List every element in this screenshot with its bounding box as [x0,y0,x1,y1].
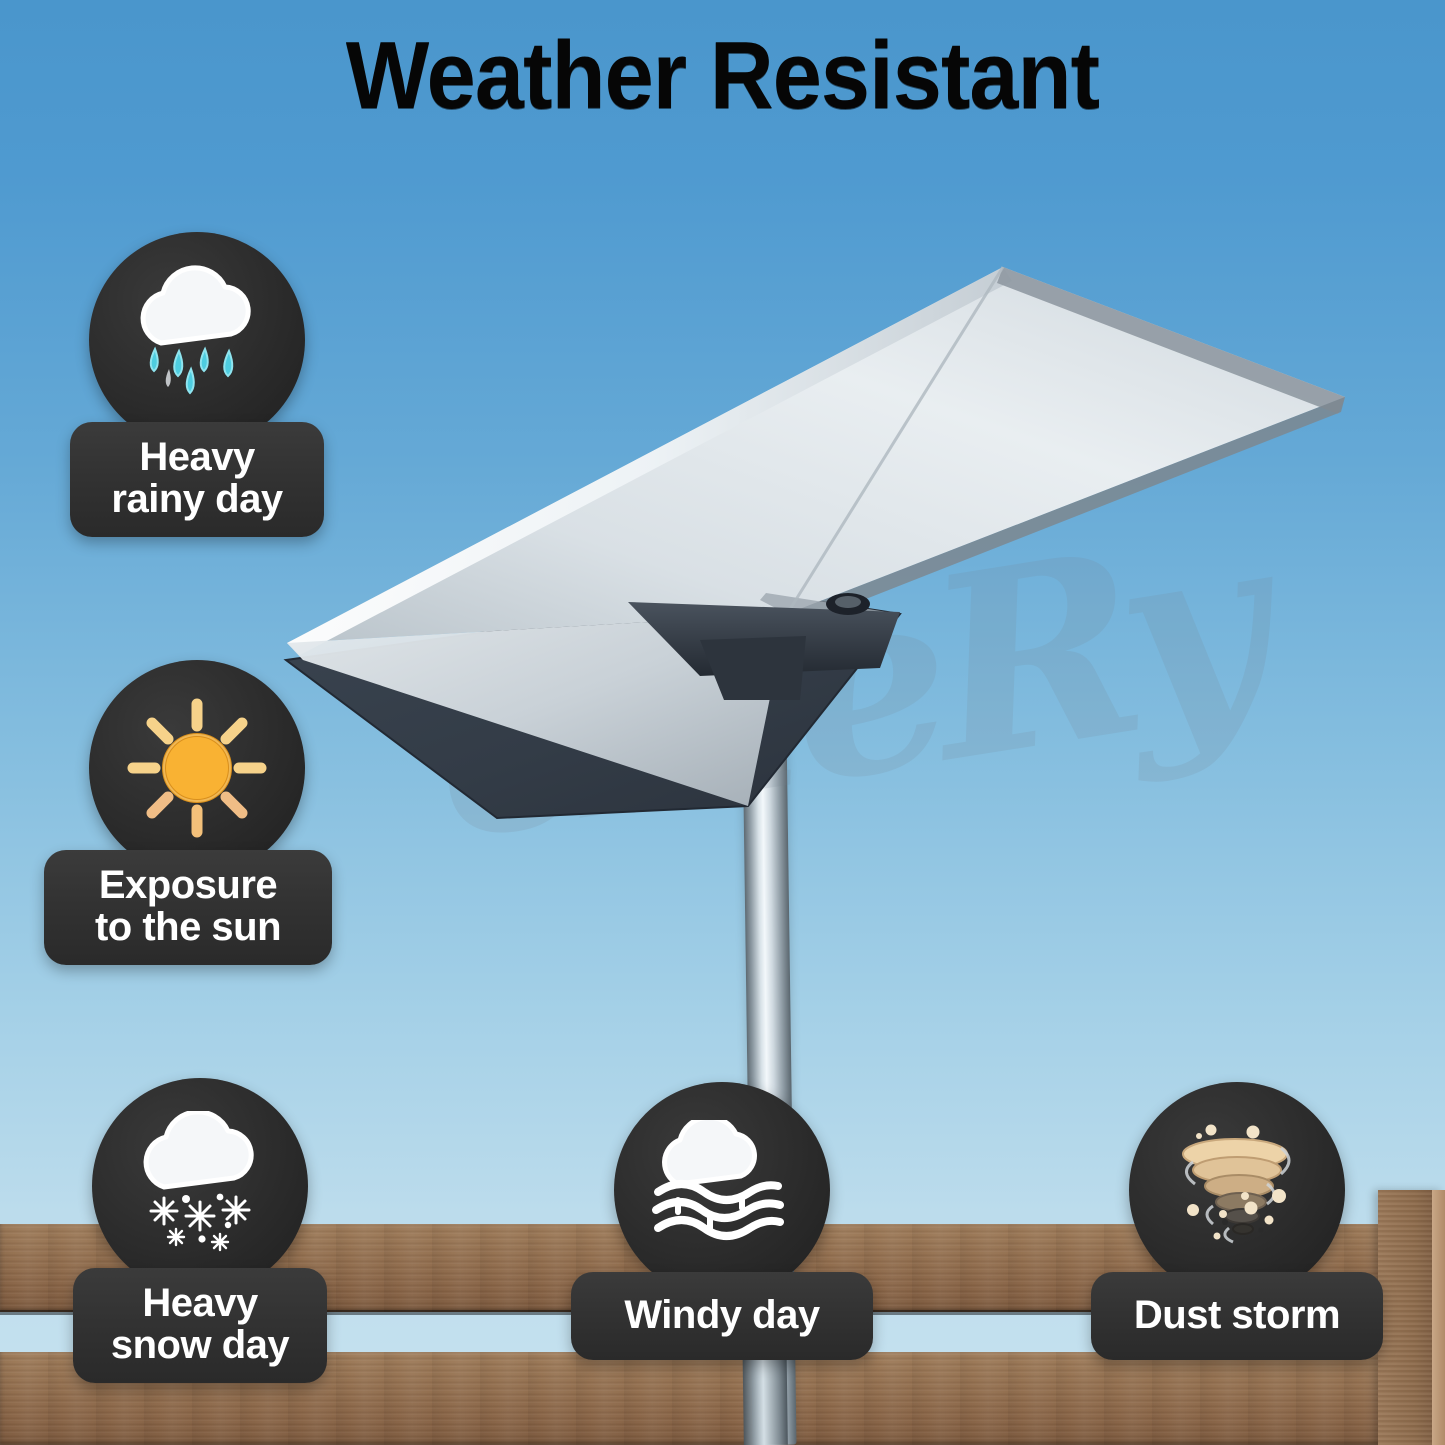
tornado-dust-icon [1157,1110,1317,1270]
badge-heavy-rainy-day[interactable]: Heavy rainy day [82,232,312,537]
badge-dust-storm[interactable]: Dust storm [1122,1082,1352,1360]
snow-cloud-icon [120,1111,280,1261]
wind-cloud-icon [642,1120,802,1260]
badge-label: Heavy rainy day [70,422,324,537]
badge-circle [1129,1082,1345,1298]
badge-heavy-snow-day[interactable]: Heavy snow day [85,1078,315,1383]
badge-label: Heavy snow day [73,1268,327,1383]
badge-label: Exposure to the sun [44,850,332,965]
badge-windy-day[interactable]: Windy day [607,1082,837,1360]
rain-cloud-icon [117,265,277,415]
badge-label: Dust storm [1091,1272,1383,1360]
badge-exposure-to-the-sun[interactable]: Exposure to the sun [82,660,312,965]
fence-post-edge [1432,1190,1445,1445]
badge-label: Windy day [571,1272,873,1360]
badge-circle [89,660,305,876]
badge-circle [614,1082,830,1298]
page-title: Weather Resistant [58,28,1387,124]
badge-circle [92,1078,308,1294]
product-feature-image: cHeRy [0,0,1445,1445]
sun-icon [117,688,277,848]
badge-circle [89,232,305,448]
